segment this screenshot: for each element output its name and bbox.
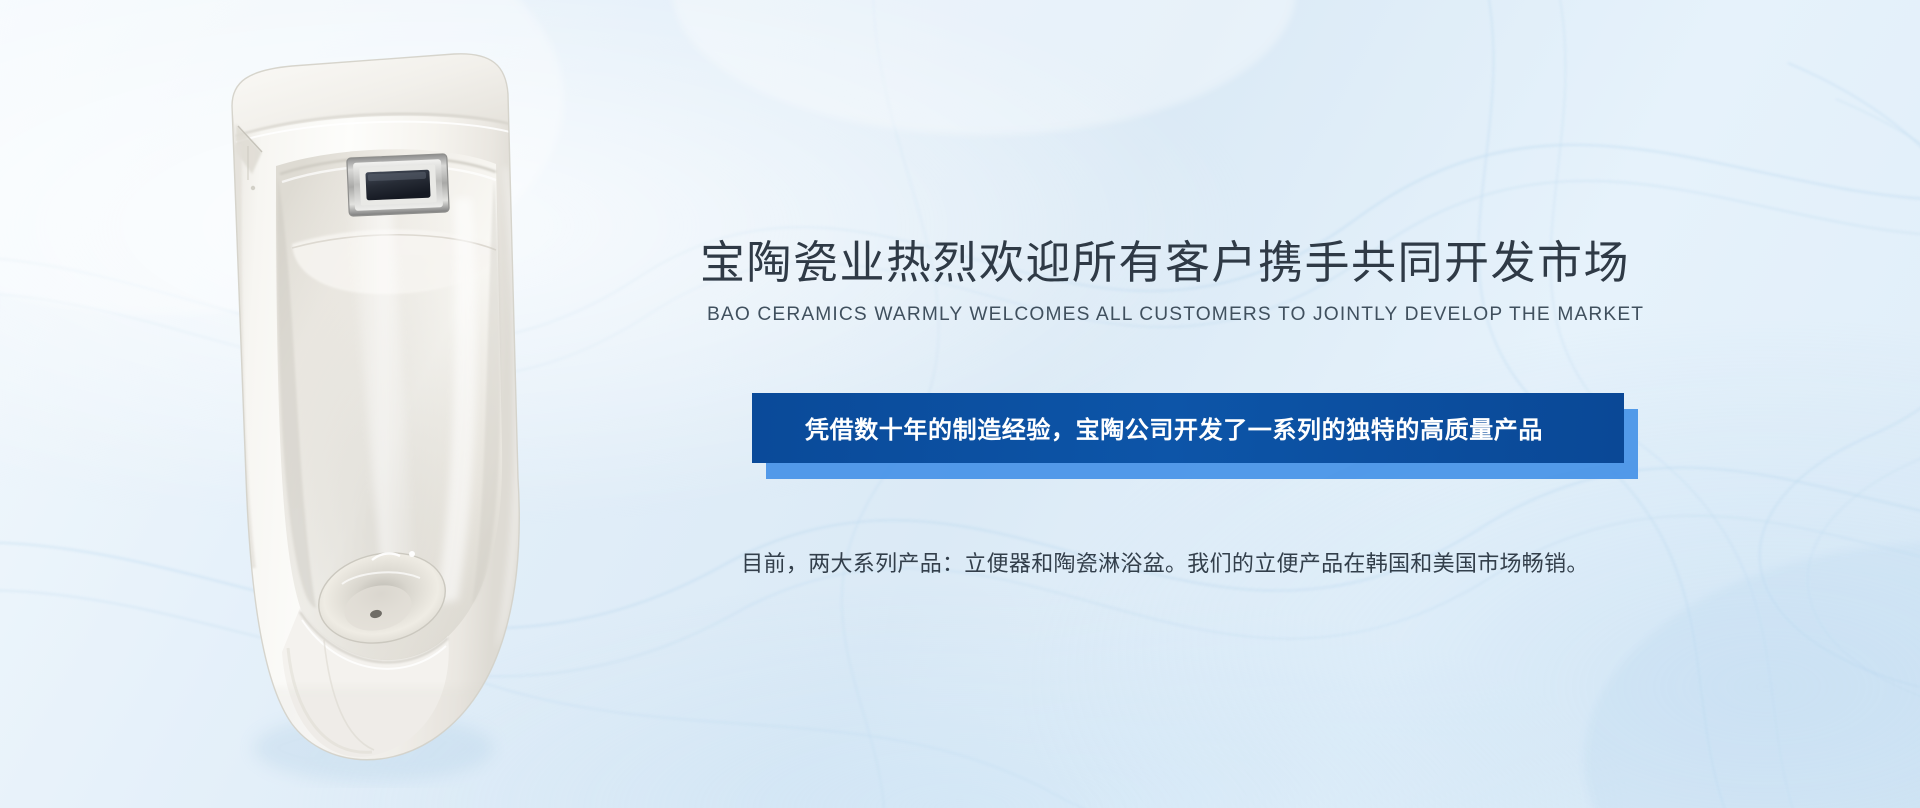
hero-description: 目前，两大系列产品：立便器和陶瓷淋浴盆。我们的立便产品在韩国和美国市场畅销。 — [700, 549, 1630, 579]
hero-banner: 宝陶瓷业热烈欢迎所有客户携手共同开发市场 BAO CERAMICS WARMLY… — [0, 0, 1920, 808]
ribbon-label: 凭借数十年的制造经验，宝陶公司开发了一系列的独特的高质量产品 — [805, 410, 1543, 445]
infrared-sensor-plate — [347, 154, 449, 216]
highlight-ribbon: 凭借数十年的制造经验，宝陶公司开发了一系列的独特的高质量产品 — [752, 393, 1624, 463]
page-subtitle: BAO CERAMICS WARMLY WELCOMES ALL CUSTOME… — [707, 303, 1623, 326]
urinal-product-photo — [196, 48, 556, 788]
ribbon-bar: 凭借数十年的制造经验，宝陶公司开发了一系列的独特的高质量产品 — [752, 393, 1624, 463]
hero-copy: 宝陶瓷业热烈欢迎所有客户携手共同开发市场 BAO CERAMICS WARMLY… — [700, 238, 1630, 578]
page-title: 宝陶瓷业热烈欢迎所有客户携手共同开发市场 — [700, 238, 1630, 288]
